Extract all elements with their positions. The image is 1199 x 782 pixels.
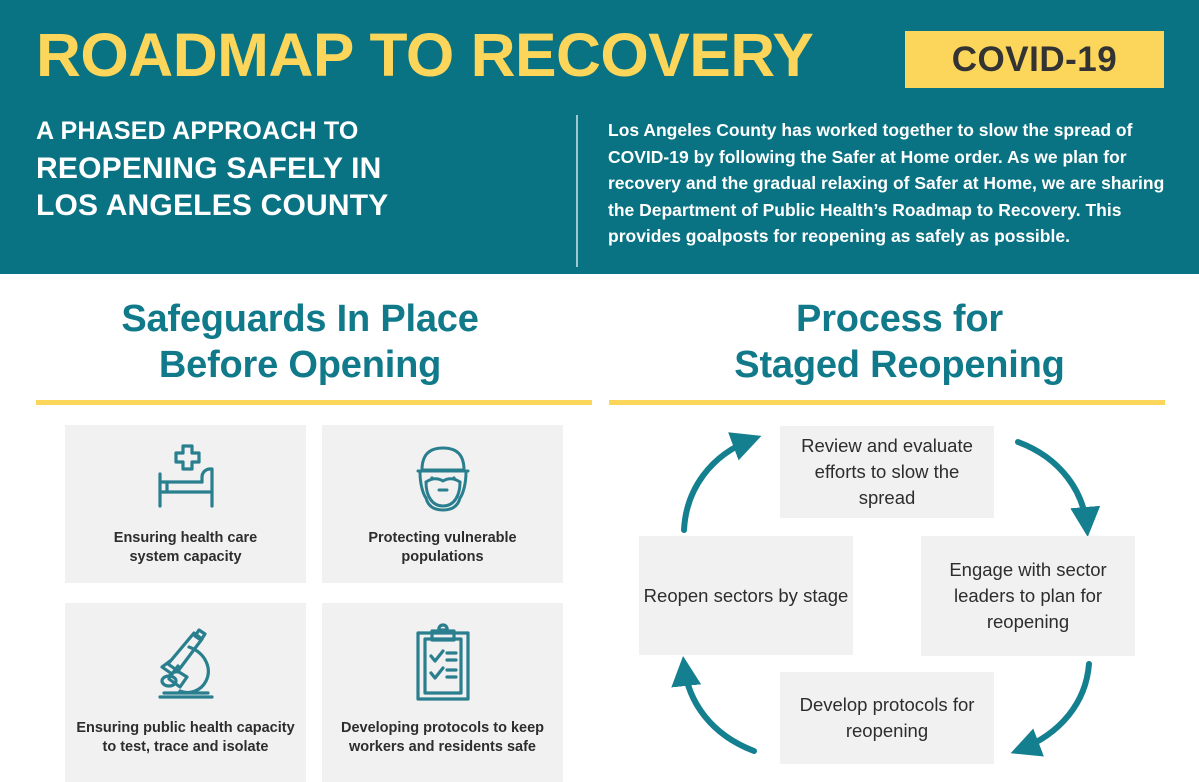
safeguard-card-vulnerable-populations: Protecting vulnerable populations [322,425,563,583]
safeguards-divider-rule [36,400,592,405]
header-subtitle: A PHASED APPROACH TO REOPENING SAFELY IN… [36,113,556,224]
process-heading-line-2: Staged Reopening [600,342,1199,388]
cycle-arrow-left-to-top [684,439,753,530]
safeguards-heading: Safeguards In Place Before Opening [0,296,600,388]
cycle-step-review-and-evaluate: Review and evaluate efforts to slow the … [780,426,994,518]
safeguard-card-label-line-2: populations [368,548,516,567]
safeguard-card-label-line-1: Protecting vulnerable [368,529,516,548]
safeguard-card-label-line-2: workers and residents safe [341,738,544,757]
page-title: ROADMAP TO RECOVERY [36,22,813,88]
safeguard-card-test-trace-isolate: Ensuring public health capacity to test,… [65,603,306,782]
process-heading-line-1: Process for [600,296,1199,342]
hospital-bed-icon [147,437,225,521]
safeguards-heading-line-1: Safeguards In Place [0,296,600,342]
safeguard-card-health-care-capacity: Ensuring health care system capacity [65,425,306,583]
safeguard-card-label: Protecting vulnerable populations [362,529,522,567]
header-subtitle-line-2: REOPENING SAFELY IN [36,150,556,187]
safeguard-card-label-line-1: Ensuring public health capacity [76,719,294,738]
covid-19-badge: COVID-19 [905,31,1164,88]
cycle-arrow-right-to-bottom [1019,664,1089,750]
header-vertical-divider [576,115,578,267]
covid-19-badge-label: COVID-19 [952,40,1117,80]
cycle-arrow-bottom-to-left [684,665,754,751]
cycle-step-develop-protocols: Develop protocols for reopening [780,672,994,764]
header-intro-paragraph: Los Angeles County has worked together t… [608,117,1172,250]
safeguard-card-label-line-1: Ensuring health care [114,529,257,548]
safeguard-card-label-line-2: system capacity [114,548,257,567]
staged-reopening-cycle-diagram: Review and evaluate efforts to slow the … [600,420,1199,770]
safeguards-heading-line-2: Before Opening [0,342,600,388]
header-subtitle-line-3: LOS ANGELES COUNTY [36,187,556,224]
safeguard-card-protocols: Developing protocols to keep workers and… [322,603,563,782]
process-divider-rule [609,400,1165,405]
safeguard-card-label: Ensuring health care system capacity [108,529,263,567]
cycle-step-reopen-sectors: Reopen sectors by stage [639,536,853,655]
microscope-icon [144,619,228,711]
cycle-arrow-top-to-right [1018,442,1087,528]
clipboard-checklist-icon [401,619,485,711]
safeguard-card-label-line-2: to test, trace and isolate [76,738,294,757]
safeguard-card-label-line-1: Developing protocols to keep [341,719,544,738]
masked-face-icon [404,437,482,521]
safeguard-card-label: Ensuring public health capacity to test,… [70,719,300,757]
safeguard-card-label: Developing protocols to keep workers and… [335,719,550,757]
process-heading: Process for Staged Reopening [600,296,1199,388]
cycle-step-engage-sector-leaders: Engage with sector leaders to plan for r… [921,536,1135,656]
header-banner: ROADMAP TO RECOVERY COVID-19 A PHASED AP… [0,0,1199,274]
header-subtitle-line-1: A PHASED APPROACH TO [36,113,556,150]
